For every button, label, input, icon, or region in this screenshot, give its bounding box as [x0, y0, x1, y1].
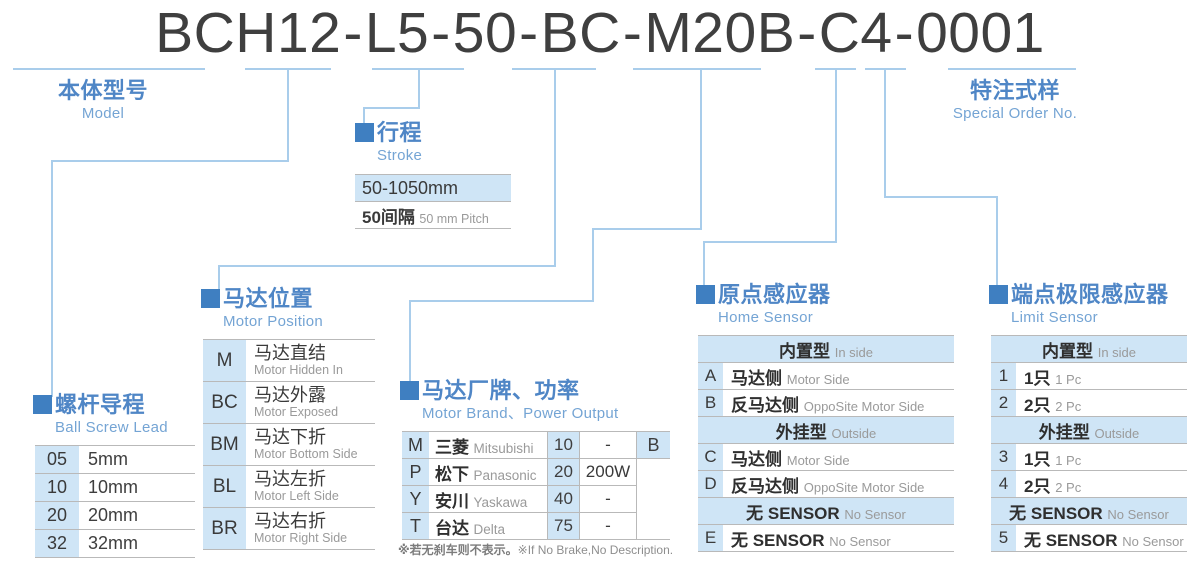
sensor-code: 1	[991, 363, 1016, 390]
motor-position-code: BR	[203, 508, 246, 550]
table-row[interactable]: M 三菱 Mitsubishi 10 - B	[402, 432, 670, 459]
table-row[interactable]: 5无 SENSOR No Sensor	[991, 525, 1187, 552]
section-limit-sensor: 端点极限感应器 Limit Sensor 内置型 In side11只 1 Pc…	[989, 282, 1187, 552]
sensor-group-cn: 外挂型	[776, 423, 832, 442]
table-row[interactable]: P 松下 Panasonic 20 200W	[402, 459, 670, 486]
sensor-group-en: In side	[1098, 345, 1136, 360]
motor-power-code: 10	[548, 432, 580, 459]
motor-brand-code: M	[402, 432, 429, 459]
lead-code: 05	[35, 446, 79, 474]
table-row[interactable]: 20 20mm	[35, 502, 195, 530]
table-row[interactable]: 外挂型 Outside	[991, 417, 1187, 444]
motor-brake-code	[637, 513, 671, 540]
motor-power-value: -	[580, 432, 637, 459]
table-row[interactable]: 无 SENSOR No Sensor	[991, 498, 1187, 525]
model-number-dash: -	[341, 2, 364, 64]
stroke-pitch-en: 50 mm Pitch	[419, 212, 488, 226]
stroke-pitch-cn: 50间隔	[362, 208, 415, 227]
motor-position-code: M	[203, 340, 246, 382]
section-ball-screw-lead: 螺杆导程 Ball Screw Lead 05 5mm 10 10mm 20 2…	[33, 392, 195, 558]
sensor-desc: 2只 2 Pc	[1016, 390, 1187, 417]
sensor-desc: 1只 1 Pc	[1016, 363, 1187, 390]
sensor-desc-en: OppoSite Motor Side	[804, 480, 925, 495]
table-row[interactable]: 外挂型 Outside	[698, 417, 954, 444]
motor-brand-title-cn: 马达厂牌、功率	[422, 378, 618, 403]
motor-brake-code	[637, 486, 671, 513]
special-order-title-cn: 特注式样	[946, 78, 1084, 103]
motor-position-table: M 马达直结 Motor Hidden In BC 马达外露 Motor Exp…	[203, 339, 375, 550]
leader-limit-v1	[884, 68, 886, 198]
model-number-dash: -	[429, 2, 452, 64]
stroke-range-cell: 50-1050mm	[355, 175, 511, 202]
table-row[interactable]: Y 安川 Yaskawa 40 -	[402, 486, 670, 513]
model-number-dash: -	[795, 2, 818, 64]
ball-screw-lead-title-en: Ball Screw Lead	[55, 418, 168, 437]
sensor-desc: 反马达侧 OppoSite Motor Side	[723, 390, 954, 417]
sensor-group-cn: 内置型	[1042, 342, 1098, 361]
motor-brand-name-cn: 松下	[435, 465, 469, 484]
sensor-code: D	[698, 471, 723, 498]
section-model: 本体型号 Model	[55, 78, 148, 123]
sensor-desc-cn: 马达侧	[731, 369, 787, 388]
motor-power-code: 75	[548, 513, 580, 540]
motor-brand-note-en: ※If No Brake,No Description.	[518, 543, 673, 557]
leader-home-v2	[703, 241, 705, 286]
home-sensor-title-en: Home Sensor	[718, 308, 831, 327]
lead-code: 10	[35, 474, 79, 502]
sensor-desc-cn: 2只	[1024, 477, 1055, 496]
sensor-desc: 无 SENSOR No Sensor	[723, 525, 954, 552]
motor-brake-code	[637, 459, 671, 486]
motor-position-marker-icon	[201, 289, 220, 308]
lead-code: 32	[35, 530, 79, 558]
table-row[interactable]: 05 5mm	[35, 446, 195, 474]
sensor-desc-cn: 马达侧	[731, 450, 787, 469]
motor-brand-code: T	[402, 513, 429, 540]
sensor-desc-cn: 1只	[1024, 450, 1055, 469]
section-home-sensor: 原点感应器 Home Sensor 内置型 In sideA马达侧 Motor …	[696, 282, 954, 552]
table-row[interactable]: 50-1050mm	[355, 175, 511, 202]
leader-brand-v1	[700, 68, 702, 230]
table-row[interactable]: 42只 2 Pc	[991, 471, 1187, 498]
motor-position-desc: 马达左折 Motor Left Side	[246, 466, 375, 508]
table-row[interactable]: 内置型 In side	[991, 336, 1187, 363]
sensor-group-en: Outside	[831, 426, 876, 441]
lead-code: 20	[35, 502, 79, 530]
leader-lead-v1	[287, 68, 289, 161]
sensor-desc-en: OppoSite Motor Side	[804, 399, 925, 414]
motor-power-code: 20	[548, 459, 580, 486]
section-stroke: 行程 Stroke 50-1050mm 50间隔 50 mm Pitch	[355, 120, 511, 229]
underline-motor-brand	[633, 68, 761, 70]
sensor-code: 3	[991, 444, 1016, 471]
lead-value: 10mm	[79, 474, 195, 502]
leader-home-h1	[703, 241, 837, 243]
motor-brand-code: P	[402, 459, 429, 486]
motor-position-title-en: Motor Position	[223, 312, 323, 331]
stroke-title-en: Stroke	[377, 146, 422, 165]
model-number-dash: -	[893, 2, 916, 64]
sensor-desc: 反马达侧 OppoSite Motor Side	[723, 471, 954, 498]
limit-sensor-marker-icon	[989, 285, 1008, 304]
table-row[interactable]: D反马达侧 OppoSite Motor Side	[698, 471, 954, 498]
motor-power-value: 200W	[580, 459, 637, 486]
motor-brake-code: B	[637, 432, 671, 459]
sensor-desc-cn: 1只	[1024, 369, 1055, 388]
sensor-group-cn: 无 SENSOR	[746, 504, 844, 523]
model-title-cn: 本体型号	[58, 78, 148, 103]
sensor-desc-en: 1 Pc	[1055, 372, 1081, 387]
motor-position-desc: 马达右折 Motor Right Side	[246, 508, 375, 550]
table-row[interactable]: 22只 2 Pc	[991, 390, 1187, 417]
model-number-segment: M20B	[644, 2, 795, 64]
home-sensor-marker-icon	[696, 285, 715, 304]
motor-position-desc-en: Motor Right Side	[254, 531, 375, 545]
motor-position-desc-en: Motor Exposed	[254, 405, 375, 419]
table-row[interactable]: 50间隔 50 mm Pitch	[355, 202, 511, 229]
lead-value: 5mm	[79, 446, 195, 474]
motor-power-value: -	[580, 486, 637, 513]
leader-brand-h1	[592, 228, 702, 230]
motor-brand-name-en: Delta	[473, 522, 505, 537]
table-row[interactable]: A马达侧 Motor Side	[698, 363, 954, 390]
motor-position-desc-en: Motor Hidden In	[254, 363, 375, 377]
motor-brand-code: Y	[402, 486, 429, 513]
sensor-group-en: In side	[835, 345, 873, 360]
model-number-segment: BCH12	[155, 2, 341, 64]
table-row[interactable]: BL 马达左折 Motor Left Side	[203, 466, 375, 508]
spec-diagram: BCH12-L5-50-BC-M20B-C4-0001 本体型号 Model	[0, 0, 1200, 575]
lead-value: 20mm	[79, 502, 195, 530]
motor-position-desc-en: Motor Bottom Side	[254, 447, 375, 461]
model-number-segment: C	[819, 2, 861, 64]
sensor-group-cn: 无 SENSOR	[1009, 504, 1107, 523]
ball-screw-lead-rows: 05 5mm 10 10mm 20 20mm 32 32mm	[35, 446, 195, 558]
motor-position-rows: M 马达直结 Motor Hidden In BC 马达外露 Motor Exp…	[203, 340, 375, 550]
sensor-desc-en: Motor Side	[787, 372, 850, 387]
motor-position-desc-en: Motor Left Side	[254, 489, 375, 503]
table-row[interactable]: T 台达 Delta 75 -	[402, 513, 670, 540]
sensor-group-header: 内置型 In side	[698, 336, 954, 363]
motor-brand-name: 三菱 Mitsubishi	[429, 432, 548, 459]
sensor-desc-en: Motor Side	[787, 453, 850, 468]
underline-model	[13, 68, 205, 70]
leader-brand-v2	[592, 228, 594, 302]
motor-brand-name-cn: 台达	[435, 519, 469, 538]
limit-sensor-rows: 内置型 In side11只 1 Pc22只 2 Pc外挂型 Outside31…	[991, 336, 1187, 552]
leader-stroke-v1	[418, 68, 420, 109]
model-number-segment: L5	[365, 2, 429, 64]
sensor-group-header: 内置型 In side	[991, 336, 1187, 363]
sensor-group-header: 无 SENSOR No Sensor	[698, 498, 954, 525]
sensor-group-en: No Sensor	[1107, 507, 1168, 522]
underline-special-order	[948, 68, 1076, 70]
limit-sensor-title-cn: 端点极限感应器	[1011, 282, 1169, 307]
leader-home-v1	[835, 68, 837, 243]
motor-position-desc-cn: 马达左折	[254, 470, 375, 489]
leader-motorpos-h1	[218, 265, 556, 267]
sensor-code: 5	[991, 525, 1016, 552]
sensor-code: E	[698, 525, 723, 552]
sensor-desc-cn: 反马达侧	[731, 396, 804, 415]
sensor-group-header: 外挂型 Outside	[991, 417, 1187, 444]
leader-motorpos-v1	[554, 68, 556, 266]
stroke-pitch-cell: 50间隔 50 mm Pitch	[355, 202, 511, 229]
motor-brand-name-en: Mitsubishi	[473, 441, 533, 456]
model-number-dash: -	[517, 2, 540, 64]
stroke-table: 50-1050mm 50间隔 50 mm Pitch	[355, 174, 511, 229]
table-row[interactable]: BC 马达外露 Motor Exposed	[203, 382, 375, 424]
sensor-code: 2	[991, 390, 1016, 417]
motor-position-desc-cn: 马达直结	[254, 344, 375, 363]
sensor-desc-en: 2 Pc	[1055, 399, 1081, 414]
stroke-range: 50-1050mm	[362, 178, 458, 198]
motor-position-desc: 马达外露 Motor Exposed	[246, 382, 375, 424]
leader-brand-h2	[409, 300, 594, 302]
motor-position-desc-cn: 马达外露	[254, 386, 375, 405]
ball-screw-lead-table: 05 5mm 10 10mm 20 20mm 32 32mm	[35, 445, 195, 558]
sensor-group-en: No Sensor	[844, 507, 905, 522]
leader-brand-v3	[409, 300, 411, 382]
table-row[interactable]: E无 SENSOR No Sensor	[698, 525, 954, 552]
sensor-desc-en: No Sensor	[829, 534, 890, 549]
sensor-code: A	[698, 363, 723, 390]
motor-position-desc-cn: 马达右折	[254, 512, 375, 531]
home-sensor-rows: 内置型 In sideA马达侧 Motor SideB反马达侧 OppoSite…	[698, 336, 954, 552]
model-number-segment: 4	[860, 2, 892, 64]
stroke-title-cn: 行程	[377, 120, 422, 145]
sensor-desc-en: 1 Pc	[1055, 453, 1081, 468]
section-motor-position: 马达位置 Motor Position M 马达直结 Motor Hidden …	[201, 286, 375, 550]
motor-brand-marker-icon	[400, 381, 419, 400]
model-number-segment: BC	[541, 2, 621, 64]
table-row[interactable]: 内置型 In side	[698, 336, 954, 363]
model-number: BCH12-L5-50-BC-M20B-C4-0001	[0, 2, 1200, 64]
limit-sensor-title-en: Limit Sensor	[1011, 308, 1169, 327]
sensor-desc: 2只 2 Pc	[1016, 471, 1187, 498]
section-motor-brand: 马达厂牌、功率 Motor Brand、Power Output M 三菱 Mi…	[400, 378, 670, 540]
motor-brand-name-cn: 安川	[435, 492, 469, 511]
model-number-segment: 50	[453, 2, 517, 64]
sensor-desc-cn: 无 SENSOR	[731, 531, 829, 550]
model-title-en: Model	[58, 104, 148, 123]
motor-power-value: -	[580, 513, 637, 540]
table-row[interactable]: 32 32mm	[35, 530, 195, 558]
motor-brand-rows: M 三菱 Mitsubishi 10 - B P 松下 Panasonic 20	[402, 432, 670, 540]
motor-brand-title-en: Motor Brand、Power Output	[422, 404, 618, 423]
table-row[interactable]: C马达侧 Motor Side	[698, 444, 954, 471]
home-sensor-title-cn: 原点感应器	[718, 282, 831, 307]
sensor-group-en: Outside	[1094, 426, 1139, 441]
motor-power-code: 40	[548, 486, 580, 513]
table-row[interactable]: B反马达侧 OppoSite Motor Side	[698, 390, 954, 417]
table-row[interactable]: 无 SENSOR No Sensor	[698, 498, 954, 525]
leader-lead-h1	[51, 160, 289, 162]
table-row[interactable]: BR 马达右折 Motor Right Side	[203, 508, 375, 550]
leader-lead-v2	[51, 160, 53, 397]
section-special-order: 特注式样 Special Order No.	[943, 78, 1084, 123]
motor-position-title-cn: 马达位置	[223, 286, 323, 311]
ball-screw-lead-title-cn: 螺杆导程	[55, 392, 168, 417]
stroke-marker-icon	[355, 123, 374, 142]
motor-brand-table: M 三菱 Mitsubishi 10 - B P 松下 Panasonic 20	[402, 431, 670, 540]
sensor-desc-en: 2 Pc	[1055, 480, 1081, 495]
motor-position-desc: 马达下折 Motor Bottom Side	[246, 424, 375, 466]
motor-brand-name-en: Panasonic	[473, 468, 536, 483]
sensor-desc: 1只 1 Pc	[1016, 444, 1187, 471]
sensor-desc-en: No Sensor	[1122, 534, 1183, 549]
motor-brand-name: 安川 Yaskawa	[429, 486, 548, 513]
special-order-title-en: Special Order No.	[946, 104, 1084, 123]
leader-stroke-h1	[363, 107, 420, 109]
sensor-desc-cn: 无 SENSOR	[1024, 531, 1122, 550]
sensor-code: B	[698, 390, 723, 417]
lead-value: 32mm	[79, 530, 195, 558]
sensor-code: C	[698, 444, 723, 471]
model-number-dash: -	[621, 2, 644, 64]
motor-brand-name: 台达 Delta	[429, 513, 548, 540]
limit-sensor-table: 内置型 In side11只 1 Pc22只 2 Pc外挂型 Outside31…	[991, 335, 1187, 552]
motor-position-desc-cn: 马达下折	[254, 428, 375, 447]
model-number-segment: 0001	[916, 2, 1045, 64]
motor-brand-name-en: Yaskawa	[473, 495, 527, 510]
motor-brand-note-cn: ※若无刹车则不表示。	[398, 543, 518, 557]
sensor-group-cn: 外挂型	[1039, 423, 1095, 442]
sensor-desc: 无 SENSOR No Sensor	[1016, 525, 1187, 552]
table-row[interactable]: 11只 1 Pc	[991, 363, 1187, 390]
sensor-desc: 马达侧 Motor Side	[723, 444, 954, 471]
home-sensor-table: 内置型 In sideA马达侧 Motor SideB反马达侧 OppoSite…	[698, 335, 954, 552]
sensor-desc-cn: 反马达侧	[731, 477, 804, 496]
motor-position-desc: 马达直结 Motor Hidden In	[246, 340, 375, 382]
ball-screw-lead-marker-icon	[33, 395, 52, 414]
motor-brand-name-cn: 三菱	[435, 438, 469, 457]
motor-position-code: BC	[203, 382, 246, 424]
sensor-desc: 马达侧 Motor Side	[723, 363, 954, 390]
sensor-group-cn: 内置型	[779, 342, 835, 361]
motor-brand-name: 松下 Panasonic	[429, 459, 548, 486]
leader-limit-h1	[884, 196, 998, 198]
motor-position-code: BM	[203, 424, 246, 466]
motor-position-code: BL	[203, 466, 246, 508]
table-row[interactable]: M 马达直结 Motor Hidden In	[203, 340, 375, 382]
sensor-desc-cn: 2只	[1024, 396, 1055, 415]
motor-brand-note: ※若无刹车则不表示。※If No Brake,No Description.	[398, 541, 673, 558]
sensor-code: 4	[991, 471, 1016, 498]
table-row[interactable]: BM 马达下折 Motor Bottom Side	[203, 424, 375, 466]
sensor-group-header: 外挂型 Outside	[698, 417, 954, 444]
sensor-group-header: 无 SENSOR No Sensor	[991, 498, 1187, 525]
leader-limit-v2	[996, 196, 998, 286]
table-row[interactable]: 31只 1 Pc	[991, 444, 1187, 471]
table-row[interactable]: 10 10mm	[35, 474, 195, 502]
